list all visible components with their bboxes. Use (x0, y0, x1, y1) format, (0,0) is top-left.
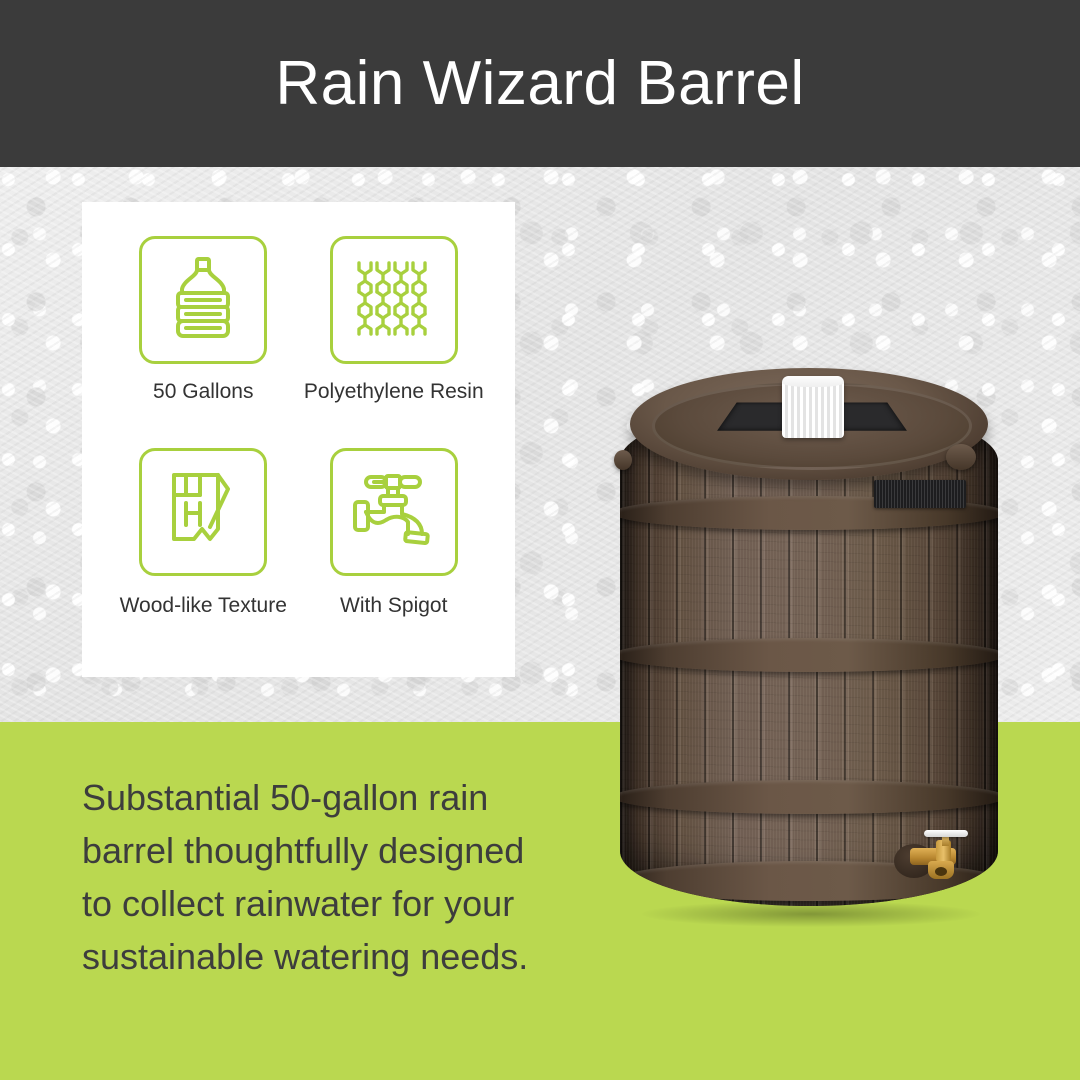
white-overflow-spout (782, 376, 844, 438)
lid-latch-right (946, 444, 976, 470)
barrel-graphic (620, 358, 998, 923)
icon-box-wood-like-texture (139, 448, 267, 576)
page-header: Rain Wizard Barrel (0, 0, 1080, 167)
barrel-ground-shadow (642, 901, 980, 927)
spigot-outlet (928, 861, 954, 879)
feature-label-polyethylene-resin: Polyethylene Resin (304, 379, 484, 404)
lid-latch-left (614, 450, 632, 470)
feature-item-with-spigot: With Spigot (299, 448, 490, 660)
barrel-hoop-lower-middle (620, 780, 998, 814)
faucet-spigot-icon (352, 472, 436, 551)
feature-card: 50 Gallons (82, 202, 515, 677)
feature-grid: 50 Gallons (82, 202, 515, 677)
feature-label-50-gallons: 50 Gallons (153, 379, 253, 404)
page-title: Rain Wizard Barrel (275, 53, 804, 115)
barrel-hoop-upper-middle (620, 638, 998, 672)
rain-barrel-photo (600, 318, 1020, 933)
icon-box-50-gallons (139, 236, 267, 364)
feature-label-wood-like-texture: Wood-like Texture (120, 593, 287, 618)
wood-plank-icon (166, 469, 240, 554)
spigot-handle (924, 830, 968, 837)
honeycomb-mesh-icon (353, 257, 435, 344)
icon-box-polyethylene-resin (330, 236, 458, 364)
feature-label-with-spigot: With Spigot (340, 593, 447, 618)
product-infographic-page: Rain Wizard Barrel (0, 0, 1080, 1080)
brass-spigot (894, 828, 980, 888)
icon-box-with-spigot (330, 448, 458, 576)
water-jug-icon (164, 256, 242, 345)
vent-screen (874, 480, 966, 508)
feature-item-polyethylene-resin: Polyethylene Resin (299, 236, 490, 448)
feature-item-wood-like-texture: Wood-like Texture (108, 448, 299, 660)
barrel-lid (630, 368, 988, 480)
product-description: Substantial 50-gallon rain barrel though… (82, 772, 552, 984)
feature-item-50-gallons: 50 Gallons (108, 236, 299, 448)
